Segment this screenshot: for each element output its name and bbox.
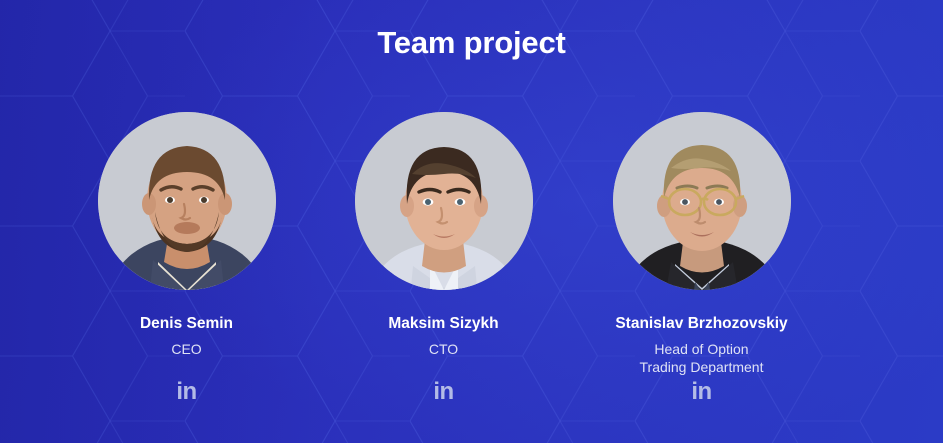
team-member-card: Stanislav Brzhozovskiy Head of Option Tr… bbox=[573, 112, 830, 404]
member-name: Maksim Sizykh bbox=[388, 314, 498, 333]
member-role: CTO bbox=[429, 340, 458, 358]
member-role-line2: Trading Department bbox=[640, 359, 764, 375]
page-title: Team project bbox=[0, 25, 943, 61]
avatar bbox=[98, 112, 276, 290]
member-name: Denis Semin bbox=[140, 314, 233, 333]
member-role-line1: CTO bbox=[429, 341, 458, 357]
team-member-card: Denis Semin CEO in bbox=[58, 112, 315, 404]
linkedin-icon[interactable]: in bbox=[691, 380, 711, 404]
avatar bbox=[355, 112, 533, 290]
avatar bbox=[613, 112, 791, 290]
team-slide: Team project bbox=[0, 0, 943, 443]
linkedin-icon[interactable]: in bbox=[433, 380, 453, 404]
team-member-list: Denis Semin CEO in bbox=[0, 112, 943, 404]
linkedin-icon[interactable]: in bbox=[176, 380, 196, 404]
member-role-line1: Head of Option bbox=[654, 341, 748, 357]
member-name: Stanislav Brzhozovskiy bbox=[615, 314, 787, 333]
team-member-card: Maksim Sizykh CTO in bbox=[315, 112, 572, 404]
member-role-line1: CEO bbox=[171, 341, 201, 357]
member-role: Head of Option Trading Department bbox=[640, 340, 764, 376]
member-role: CEO bbox=[171, 340, 201, 358]
